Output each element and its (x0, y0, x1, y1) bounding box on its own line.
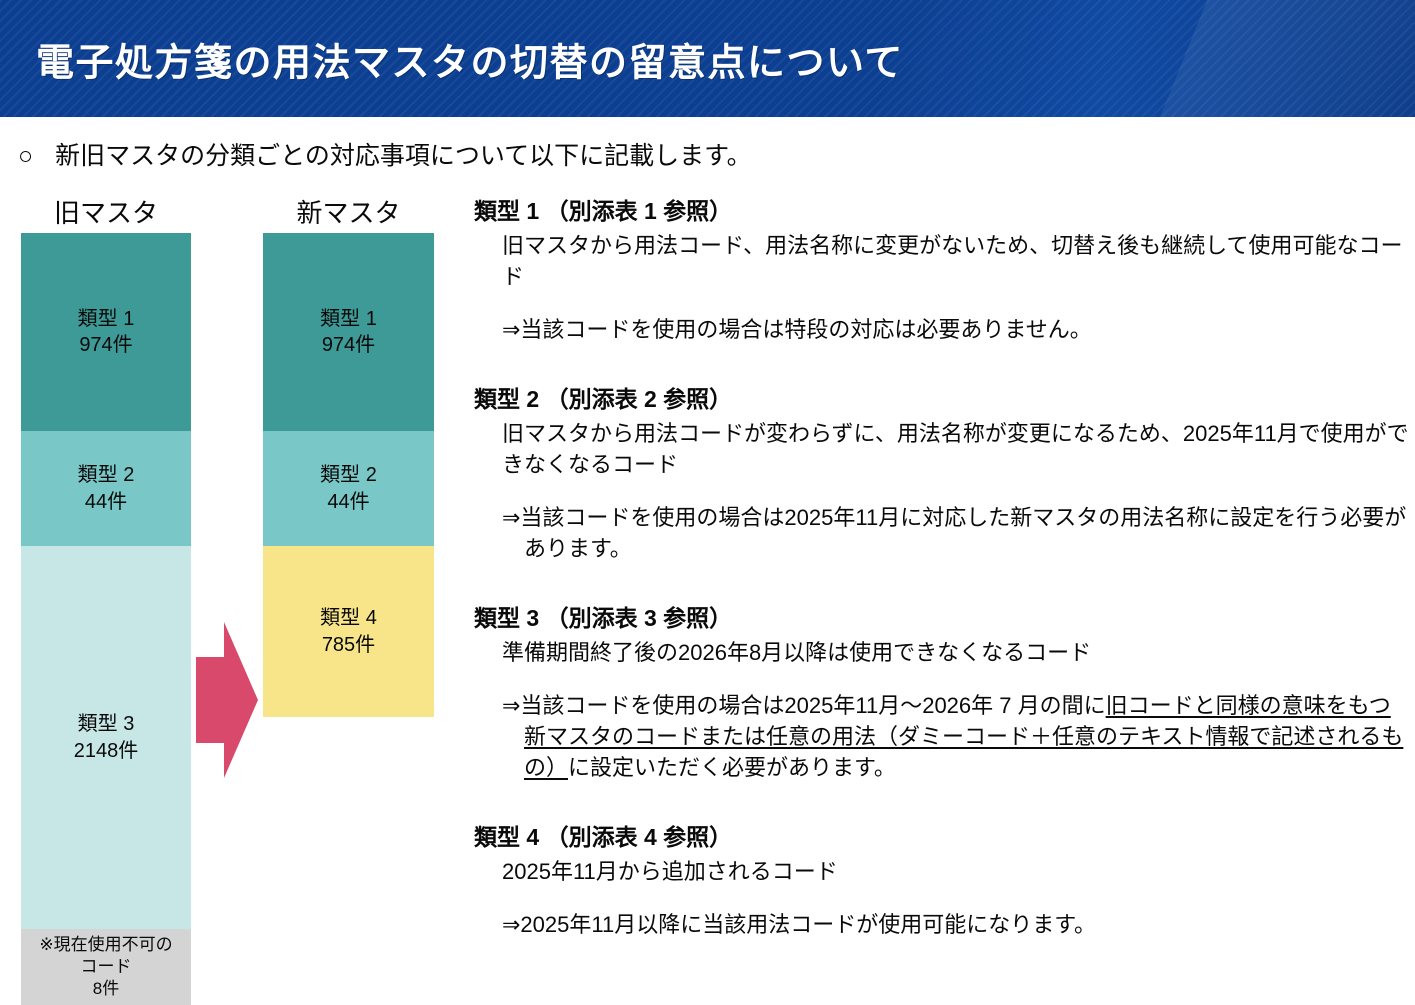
slide-header: 電子処方箋の用法マスタの切替の留意点について (0, 0, 1415, 117)
old-segment-type1: 類型 1 974件 (21, 233, 191, 431)
type-4-reference: （別添表 4 参照） (546, 824, 733, 850)
old-segment-unusable-note: ※現在使用不可の コード 8件 (21, 929, 191, 1005)
type-2-heading: 類型 2 （別添表 2 参照） (474, 380, 1409, 414)
new-segment-type1: 類型 1 974件 (263, 233, 434, 431)
type-3-reference: （別添表 3 参照） (546, 605, 733, 631)
new-segment-type2: 類型 2 44件 (263, 431, 434, 546)
type-4-description: 2025年11月から追加されるコード (502, 856, 1409, 887)
old-segment-type3: 類型 3 2148件 (21, 546, 191, 929)
new-segment-type4: 類型 4 785件 (263, 546, 434, 717)
type-2-heading-label: 類型 2 (474, 386, 539, 412)
type-3-heading: 類型 3 （別添表 3 参照） (474, 599, 1409, 633)
type-4-heading-label: 類型 4 (474, 824, 539, 850)
circle-bullet-icon: ○ (18, 142, 33, 171)
old-master-label: 旧マスタ (21, 193, 191, 230)
type-block-2: 類型 2 （別添表 2 参照） 旧マスタから用法コードが変わらずに、用法名称が変… (474, 380, 1409, 565)
old-segment-type1-text: 類型 1 974件 (78, 306, 135, 359)
type-3-description: 準備期間終了後の2026年8月以降は使用できなくなるコード (502, 637, 1409, 668)
new-segment-type1-text: 類型 1 974件 (320, 306, 377, 359)
new-segment-type4-text: 類型 4 785件 (320, 605, 377, 658)
type-block-1: 類型 1 （別添表 1 参照） 旧マスタから用法コード、用法名称に変更がないため… (474, 192, 1409, 346)
new-master-label: 新マスタ (263, 193, 434, 230)
transition-arrow (196, 622, 258, 778)
master-comparison-diagram: 旧マスタ 新マスタ 類型 1 974件 類型 2 44件 類型 3 2148件 … (0, 188, 470, 1005)
new-segment-type2-text: 類型 2 44件 (320, 462, 377, 515)
type-3-action: ⇒当該コードを使用の場合は2025年11月～2026年 7 月の間に旧コードと同… (502, 690, 1409, 784)
lead-statement: ○ 新旧マスタの分類ごとの対応事項について以下に記載します。 (18, 136, 752, 172)
type-4-action: ⇒2025年11月以降に当該用法コードが使用可能になります。 (502, 909, 1409, 940)
right-arrow-icon (196, 622, 258, 778)
type-3-heading-label: 類型 3 (474, 605, 539, 631)
type-1-description: 旧マスタから用法コード、用法名称に変更がないため、切替え後も継続して使用可能なコ… (502, 230, 1409, 292)
type-block-4: 類型 4 （別添表 4 参照） 2025年11月から追加されるコード ⇒2025… (474, 818, 1409, 940)
type-descriptions: 類型 1 （別添表 1 参照） 旧マスタから用法コード、用法名称に変更がないため… (474, 192, 1409, 946)
old-master-stack: 類型 1 974件 類型 2 44件 類型 3 2148件 ※現在使用不可の コ… (21, 233, 191, 1005)
type-2-reference: （別添表 2 参照） (546, 386, 733, 412)
type-1-heading-label: 類型 1 (474, 198, 539, 224)
old-segment-type2: 類型 2 44件 (21, 431, 191, 546)
type-1-heading: 類型 1 （別添表 1 参照） (474, 192, 1409, 226)
type-block-3: 類型 3 （別添表 3 参照） 準備期間終了後の2026年8月以降は使用できなく… (474, 599, 1409, 784)
lead-statement-text: 新旧マスタの分類ごとの対応事項について以下に記載します。 (55, 136, 752, 172)
header-sheen-decoration (1127, 0, 1415, 117)
type-3-action-suffix: に設定いただく必要があります。 (568, 755, 896, 780)
new-master-stack: 類型 1 974件 類型 2 44件 類型 4 785件 (263, 233, 434, 717)
type-4-heading: 類型 4 （別添表 4 参照） (474, 818, 1409, 852)
type-3-action-prefix: ⇒当該コードを使用の場合は2025年11月～2026年 7 月の間に (502, 693, 1106, 718)
type-1-reference: （別添表 1 参照） (546, 198, 733, 224)
old-segment-type3-text: 類型 3 2148件 (74, 711, 139, 764)
old-segment-type2-text: 類型 2 44件 (78, 462, 135, 515)
old-segment-unusable-text: ※現在使用不可の コード 8件 (39, 934, 172, 1000)
type-2-description: 旧マスタから用法コードが変わらずに、用法名称が変更になるため、2025年11月で… (502, 418, 1409, 480)
page-title: 電子処方箋の用法マスタの切替の留意点について (36, 31, 904, 86)
type-1-action: ⇒当該コードを使用の場合は特段の対応は必要ありません。 (502, 314, 1409, 345)
type-2-action: ⇒当該コードを使用の場合は2025年11月に対応した新マスタの用法名称に設定を行… (502, 502, 1409, 564)
